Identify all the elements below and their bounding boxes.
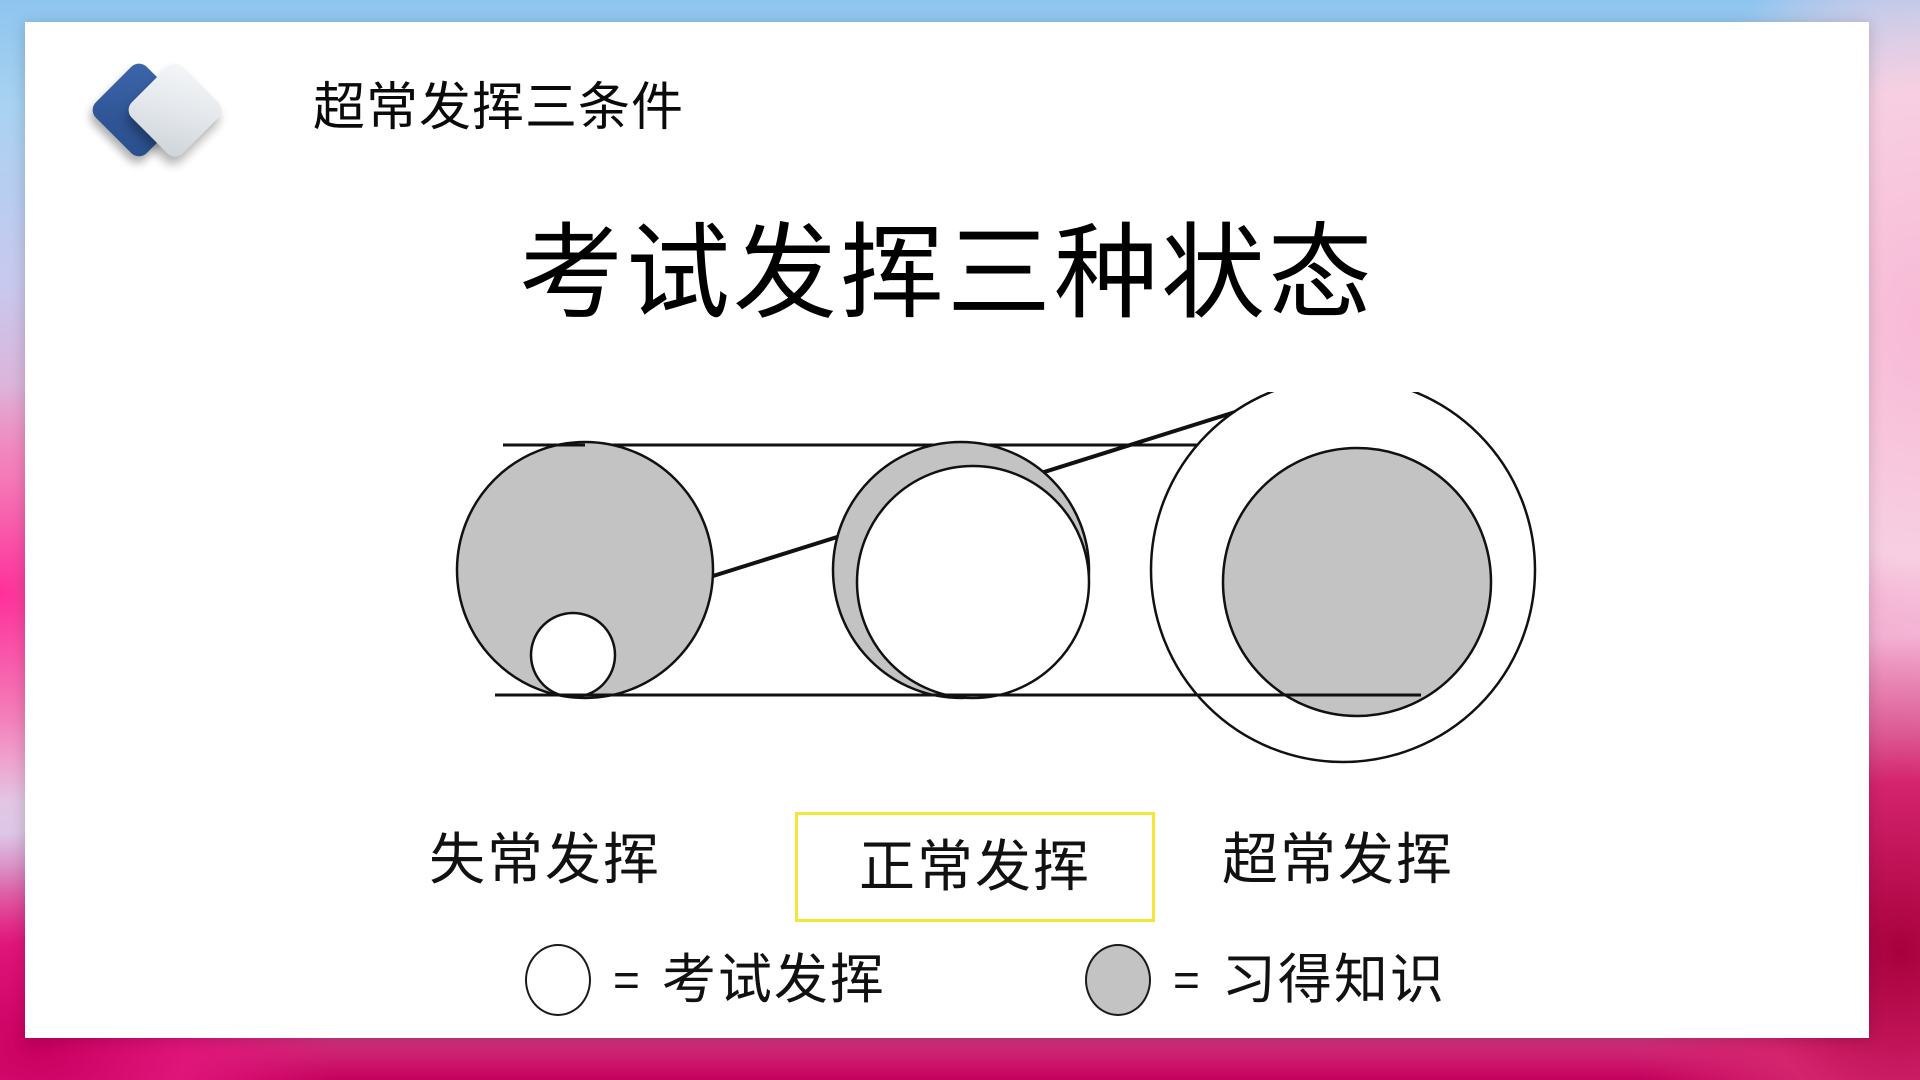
state-label-normal-highlighted[interactable]: 正常发挥	[795, 812, 1155, 922]
legend-item-exam-performance: = 考试发挥	[525, 944, 886, 1016]
slide-header-title: 超常发挥三条件	[313, 82, 684, 134]
legend-label-exam-performance: 考试发挥	[662, 953, 886, 1007]
legend-gray-circle-icon	[1085, 944, 1151, 1016]
state-group-overperform	[1151, 392, 1535, 762]
state-group-underperform	[457, 442, 713, 698]
state-label-underperform[interactable]: 失常发挥	[429, 832, 661, 888]
legend-white-circle-icon	[525, 944, 591, 1016]
legend-label-acquired-knowledge: 习得知识	[1222, 953, 1446, 1007]
legend-equals-sign-0: =	[613, 957, 640, 1003]
performance-circle-1	[531, 613, 615, 697]
page-title: 考试发挥三种状态	[25, 220, 1869, 329]
brand-logo	[95, 60, 237, 168]
three-states-diagram	[25, 392, 1869, 822]
diagram-svg	[25, 392, 1869, 822]
diagram-legend: = 考试发挥 = 习得知识	[25, 938, 1869, 1034]
performance-circle-2	[857, 466, 1089, 698]
state-label-overperform[interactable]: 超常发挥	[1222, 832, 1454, 888]
legend-item-acquired-knowledge: = 习得知识	[1085, 944, 1446, 1016]
state-group-normal	[833, 442, 1089, 698]
knowledge-circle-3	[1223, 448, 1491, 716]
state-labels-row: 失常发挥 正常发挥 超常发挥	[25, 812, 1869, 930]
slide-canvas: 超常发挥三条件 考试发挥三种状态	[25, 22, 1869, 1038]
legend-equals-sign-1: =	[1173, 957, 1200, 1003]
